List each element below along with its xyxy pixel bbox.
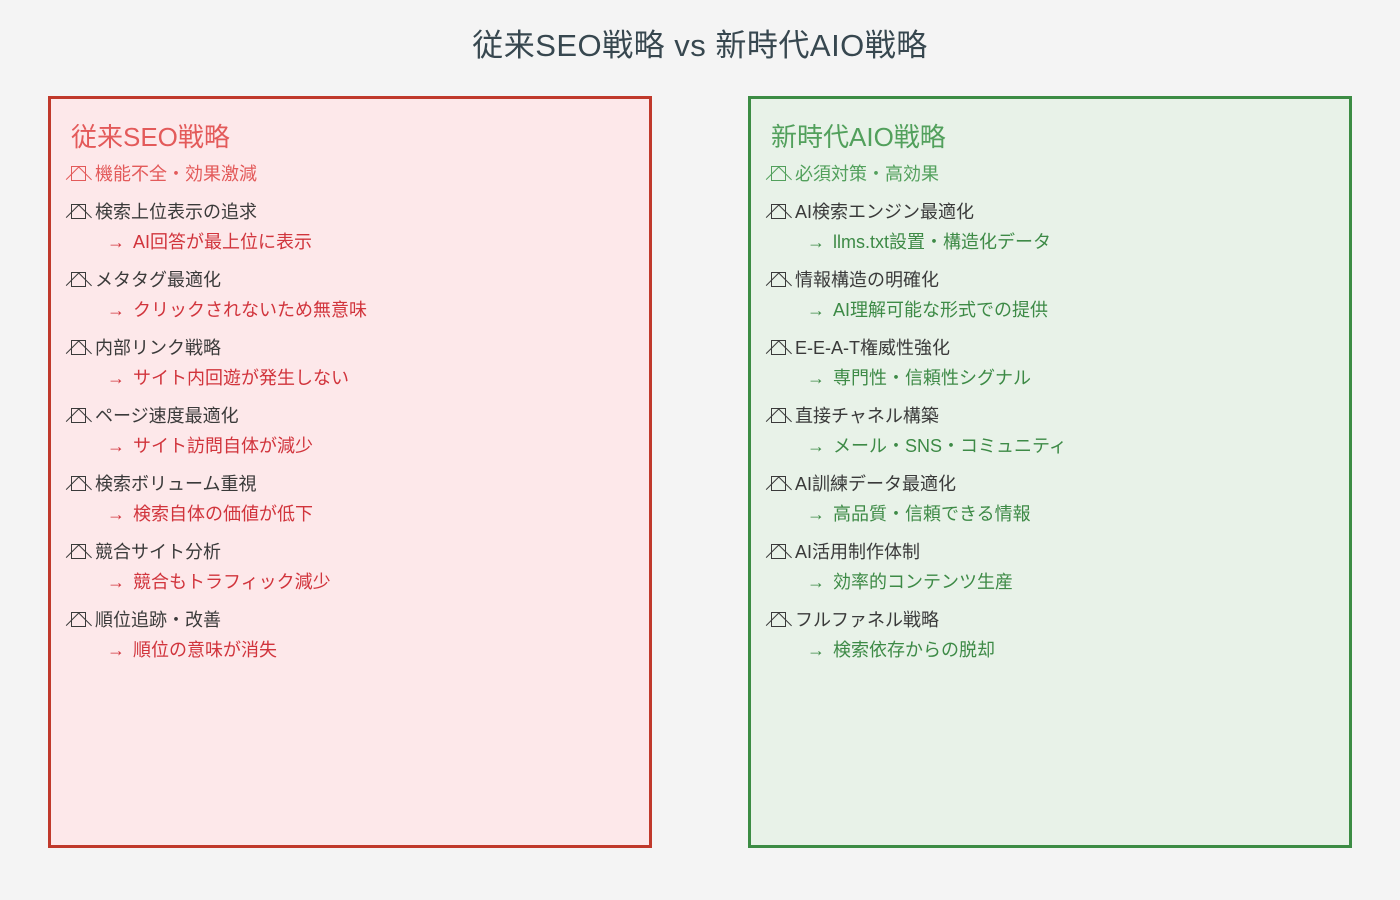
strategy-item-detail-row: →AI回答が最上位に表示: [71, 227, 649, 257]
strategy-item-label: AI訓練データ最適化: [795, 469, 956, 499]
strategy-item-detail-label: メール・SNS・コミュニティ: [833, 436, 1067, 456]
strategy-item-detail-row: →llms.txt設置・構造化データ: [771, 227, 1349, 257]
strategy-item-main-row: 検索ボリューム重視: [71, 469, 649, 499]
strategy-item-detail-row: →効率的コンテンツ生産: [771, 567, 1349, 597]
panel-heading: 従来SEO戦略: [71, 121, 649, 153]
panel-subtitle-row: 必須対策・高効果: [771, 159, 1349, 189]
tofu-box-icon: [71, 408, 86, 423]
strategy-item: 情報構造の明確化→AI理解可能な形式での提供: [771, 265, 1349, 325]
strategy-item: 内部リンク戦略→サイト内回遊が発生しない: [71, 333, 649, 393]
strategy-item: 順位追跡・改善→順位の意味が消失: [71, 605, 649, 665]
strategy-item: 検索上位表示の追求→AI回答が最上位に表示: [71, 197, 649, 257]
strategy-item-main-row: メタタグ最適化: [71, 265, 649, 295]
strategy-item-label: 競合サイト分析: [95, 537, 221, 567]
strategy-item-detail-row: →検索自体の価値が低下: [71, 499, 649, 529]
strategy-item-detail-row: →順位の意味が消失: [71, 635, 649, 665]
strategy-item-main-row: 検索上位表示の追求: [71, 197, 649, 227]
strategy-item: 競合サイト分析→競合もトラフィック減少: [71, 537, 649, 597]
strategy-item-detail-row: →メール・SNS・コミュニティ: [771, 431, 1349, 461]
tofu-box-icon: [71, 612, 86, 627]
strategy-item-label: 順位追跡・改善: [95, 605, 221, 635]
right-arrow-icon: →: [107, 640, 125, 660]
strategy-item-detail-row: →競合もトラフィック減少: [71, 567, 649, 597]
strategy-item-detail-label: AI理解可能な形式での提供: [833, 300, 1048, 320]
tofu-box-icon: [771, 408, 786, 423]
tofu-box-icon: [771, 476, 786, 491]
right-arrow-icon: →: [107, 572, 125, 592]
strategy-item-label: 内部リンク戦略: [95, 333, 221, 363]
strategy-item-main-row: 内部リンク戦略: [71, 333, 649, 363]
strategy-item-detail-row: →検索依存からの脱却: [771, 635, 1349, 665]
strategy-item-main-row: 順位追跡・改善: [71, 605, 649, 635]
strategy-item-detail-label: 検索自体の価値が低下: [133, 504, 313, 524]
strategy-item-main-row: フルファネル戦略: [771, 605, 1349, 635]
tofu-box-icon: [771, 340, 786, 355]
strategy-item-detail-row: →クリックされないため無意味: [71, 295, 649, 325]
right-arrow-icon: →: [807, 368, 825, 388]
strategy-item-detail-label: クリックされないため無意味: [133, 300, 367, 320]
strategy-item-label: AI活用制作体制: [795, 537, 920, 567]
right-arrow-icon: →: [807, 572, 825, 592]
strategy-item-main-row: AI活用制作体制: [771, 537, 1349, 567]
strategy-item-label: AI検索エンジン最適化: [795, 197, 974, 227]
tofu-box-icon: [771, 204, 786, 219]
strategy-item: E-E-A-T権威性強化→専門性・信頼性シグナル: [771, 333, 1349, 393]
right-arrow-icon: →: [107, 300, 125, 320]
strategy-item-detail-label: 高品質・信頼できる情報: [833, 504, 1031, 524]
strategy-item-detail-label: 検索依存からの脱却: [833, 640, 995, 660]
strategy-item: フルファネル戦略→検索依存からの脱却: [771, 605, 1349, 665]
right-arrow-icon: →: [107, 232, 125, 252]
strategy-item-label: E-E-A-T権威性強化: [795, 333, 950, 363]
strategy-item: AI訓練データ最適化→高品質・信頼できる情報: [771, 469, 1349, 529]
tofu-box-icon: [771, 272, 786, 287]
strategy-item: メタタグ最適化→クリックされないため無意味: [71, 265, 649, 325]
right-arrow-icon: →: [807, 300, 825, 320]
strategy-item-detail-label: llms.txt設置・構造化データ: [833, 232, 1051, 252]
strategy-item: 直接チャネル構築→メール・SNS・コミュニティ: [771, 401, 1349, 461]
strategy-item-detail-label: サイト内回遊が発生しない: [133, 368, 349, 388]
comparison-page: 従来SEO戦略 vs 新時代AIO戦略 従来SEO戦略 機能不全・効果激減 検索…: [0, 0, 1400, 900]
right-arrow-icon: →: [807, 232, 825, 252]
tofu-box-icon: [71, 166, 86, 181]
strategy-item-detail-row: →高品質・信頼できる情報: [771, 499, 1349, 529]
panel-subtitle-row: 機能不全・効果激減: [71, 159, 649, 189]
strategy-item-main-row: AI検索エンジン最適化: [771, 197, 1349, 227]
panel-heading: 新時代AIO戦略: [771, 121, 1349, 153]
strategy-item-main-row: E-E-A-T権威性強化: [771, 333, 1349, 363]
strategy-item-detail-row: →サイト内回遊が発生しない: [71, 363, 649, 393]
right-arrow-icon: →: [107, 368, 125, 388]
strategy-item-label: 検索ボリューム重視: [95, 469, 256, 499]
strategy-item-label: フルファネル戦略: [795, 605, 939, 635]
strategy-item-label: 情報構造の明確化: [795, 265, 939, 295]
strategy-item-detail-label: 効率的コンテンツ生産: [833, 572, 1013, 592]
item-list: 検索上位表示の追求→AI回答が最上位に表示メタタグ最適化→クリックされないため無…: [71, 197, 649, 665]
panel-legacy-seo: 従来SEO戦略 機能不全・効果激減 検索上位表示の追求→AI回答が最上位に表示メ…: [48, 96, 652, 848]
tofu-box-icon: [71, 544, 86, 559]
strategy-item: AI活用制作体制→効率的コンテンツ生産: [771, 537, 1349, 597]
strategy-item-label: 直接チャネル構築: [795, 401, 939, 431]
strategy-item-label: 検索上位表示の追求: [95, 197, 257, 227]
tofu-box-icon: [771, 166, 786, 181]
strategy-item-label: メタタグ最適化: [95, 265, 221, 295]
right-arrow-icon: →: [807, 504, 825, 524]
strategy-item-detail-label: サイト訪問自体が減少: [133, 436, 313, 456]
tofu-box-icon: [71, 272, 86, 287]
panel-subtitle-label: 必須対策・高効果: [795, 159, 939, 189]
strategy-item: ページ速度最適化→サイト訪問自体が減少: [71, 401, 649, 461]
strategy-item-detail-label: 順位の意味が消失: [133, 640, 277, 660]
strategy-item: AI検索エンジン最適化→llms.txt設置・構造化データ: [771, 197, 1349, 257]
panel-new-era-aio: 新時代AIO戦略 必須対策・高効果 AI検索エンジン最適化→llms.txt設置…: [748, 96, 1352, 848]
right-arrow-icon: →: [107, 436, 125, 456]
strategy-item: 検索ボリューム重視→検索自体の価値が低下: [71, 469, 649, 529]
tofu-box-icon: [71, 204, 86, 219]
tofu-box-icon: [71, 340, 86, 355]
strategy-item-detail-row: →専門性・信頼性シグナル: [771, 363, 1349, 393]
strategy-item-detail-label: AI回答が最上位に表示: [133, 232, 312, 252]
page-title: 従来SEO戦略 vs 新時代AIO戦略: [0, 20, 1400, 65]
strategy-item-detail-label: 競合もトラフィック減少: [133, 572, 331, 592]
strategy-item-main-row: 競合サイト分析: [71, 537, 649, 567]
tofu-box-icon: [71, 476, 86, 491]
strategy-item-main-row: AI訓練データ最適化: [771, 469, 1349, 499]
right-arrow-icon: →: [807, 640, 825, 660]
tofu-box-icon: [771, 544, 786, 559]
right-arrow-icon: →: [807, 436, 825, 456]
strategy-item-label: ページ速度最適化: [95, 401, 239, 431]
panel-subtitle-label: 機能不全・効果激減: [95, 159, 257, 189]
right-arrow-icon: →: [107, 504, 125, 524]
item-list: AI検索エンジン最適化→llms.txt設置・構造化データ情報構造の明確化→AI…: [771, 197, 1349, 665]
strategy-item-main-row: 情報構造の明確化: [771, 265, 1349, 295]
strategy-item-detail-row: →AI理解可能な形式での提供: [771, 295, 1349, 325]
tofu-box-icon: [771, 612, 786, 627]
strategy-item-detail-label: 専門性・信頼性シグナル: [833, 368, 1031, 388]
strategy-item-main-row: ページ速度最適化: [71, 401, 649, 431]
strategy-item-main-row: 直接チャネル構築: [771, 401, 1349, 431]
strategy-item-detail-row: →サイト訪問自体が減少: [71, 431, 649, 461]
